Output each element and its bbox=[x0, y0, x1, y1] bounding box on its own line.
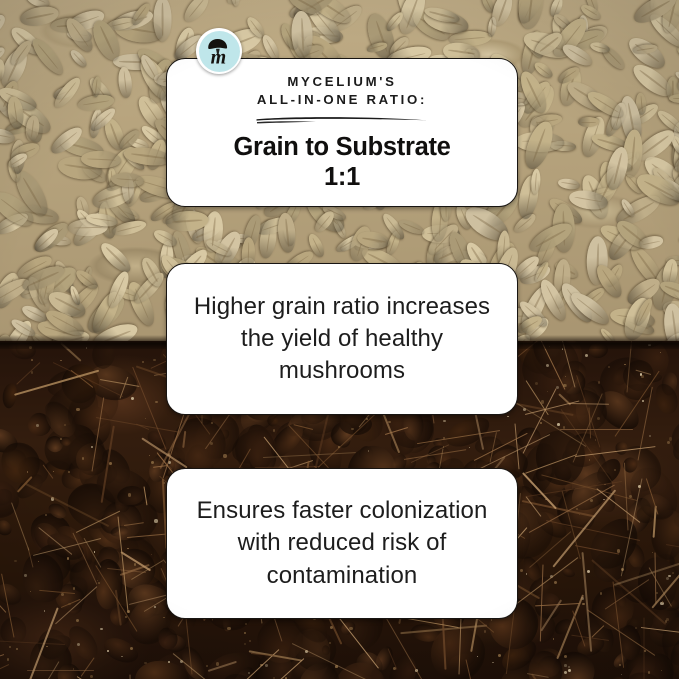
soil-root-fiber bbox=[572, 611, 585, 647]
soil-root-fiber bbox=[388, 648, 398, 670]
grain-kernel bbox=[598, 326, 617, 341]
soil-root-fiber bbox=[42, 464, 53, 479]
ratio-headline: Grain to Substrate 1:1 bbox=[233, 133, 450, 192]
soil-root-fiber bbox=[525, 454, 577, 474]
yield-text: Higher grain ratio increases the yield o… bbox=[167, 291, 517, 387]
soil-root-fiber bbox=[129, 675, 132, 679]
grain-kernel bbox=[669, 94, 679, 103]
soil-root-fiber bbox=[81, 657, 95, 677]
soil-root-fiber bbox=[545, 520, 639, 541]
soil-root-fiber bbox=[666, 544, 679, 548]
soil-root-fiber bbox=[654, 552, 656, 603]
soil-root-fiber bbox=[515, 423, 520, 468]
soil-root-fiber bbox=[635, 370, 651, 375]
soil-root-fiber bbox=[96, 565, 138, 631]
soil-root-fiber bbox=[208, 661, 237, 672]
soil-root-fiber bbox=[560, 409, 613, 484]
soil-root-fiber bbox=[613, 581, 625, 668]
soil-root-fiber bbox=[0, 654, 4, 675]
soil-root-fiber bbox=[646, 478, 659, 514]
soil-root-fiber bbox=[0, 640, 65, 645]
grain-kernel bbox=[97, 239, 134, 276]
soil-root-fiber bbox=[236, 659, 304, 679]
soil-root-fiber bbox=[465, 659, 482, 679]
soil-root-fiber bbox=[527, 673, 549, 678]
grain-kernel bbox=[153, 0, 172, 42]
soil-root-fiber bbox=[39, 527, 73, 555]
soil-root-fiber bbox=[101, 426, 115, 503]
soil-root-fiber bbox=[292, 643, 367, 679]
grain-kernel bbox=[557, 177, 580, 190]
soil-root-fiber bbox=[1, 574, 14, 638]
brand-logo-badge[interactable]: m bbox=[196, 28, 242, 74]
soil-root-fiber bbox=[143, 487, 147, 506]
ratio-eyebrow: MYCELIUM'S ALL-IN-ONE RATIO: bbox=[257, 73, 427, 110]
soil-root-fiber bbox=[620, 478, 642, 576]
soil-root-fiber bbox=[39, 590, 75, 594]
soil-root-fiber bbox=[560, 429, 633, 430]
soil-root-fiber bbox=[506, 612, 515, 675]
flourish-divider-icon bbox=[254, 115, 430, 126]
soil-root-fiber bbox=[91, 397, 104, 471]
soil-root-fiber bbox=[294, 424, 313, 430]
ratio-eyebrow-line1: MYCELIUM'S bbox=[257, 73, 427, 92]
infographic-canvas: MYCELIUM'S ALL-IN-ONE RATIO: Grain to Su… bbox=[0, 0, 679, 679]
soil-root-fiber bbox=[251, 653, 274, 656]
grain-kernel bbox=[0, 11, 9, 40]
soil-root-fiber bbox=[626, 341, 633, 393]
colonization-card: Ensures faster colonization with reduced… bbox=[166, 468, 518, 619]
soil-root-fiber bbox=[182, 431, 186, 448]
yield-card: Higher grain ratio increases the yield o… bbox=[166, 263, 518, 415]
soil-root-fiber bbox=[75, 511, 119, 533]
ratio-eyebrow-line2: ALL-IN-ONE RATIO: bbox=[257, 91, 427, 110]
svg-text:m: m bbox=[211, 46, 227, 68]
soil-root-fiber bbox=[614, 370, 659, 436]
logo-disc: m bbox=[199, 31, 240, 72]
grain-kernel bbox=[516, 0, 546, 30]
soil-root-fiber bbox=[550, 341, 576, 388]
ratio-headline-line2: 1:1 bbox=[233, 163, 450, 193]
soil-root-fiber bbox=[641, 627, 679, 638]
ratio-headline-line1: Grain to Substrate bbox=[233, 133, 450, 163]
mushroom-m-monogram-icon: m bbox=[200, 32, 238, 70]
grain-kernel bbox=[28, 34, 67, 77]
soil-root-fiber bbox=[118, 517, 129, 614]
soil-root-fiber bbox=[473, 434, 550, 472]
grain-kernel bbox=[117, 67, 133, 99]
soil-root-fiber bbox=[173, 653, 242, 679]
soil-root-fiber bbox=[27, 670, 94, 671]
soil-root-fiber bbox=[100, 379, 140, 387]
soil-root-fiber bbox=[525, 496, 541, 517]
soil-root-fiber bbox=[17, 362, 41, 384]
grain-kernel bbox=[530, 168, 541, 194]
soil-root-fiber bbox=[569, 403, 609, 405]
grain-kernel bbox=[181, 0, 213, 26]
soil-root-fiber bbox=[132, 368, 166, 450]
ratio-card: MYCELIUM'S ALL-IN-ONE RATIO: Grain to Su… bbox=[166, 58, 518, 207]
soil-root-fiber bbox=[25, 483, 108, 526]
soil-root-fiber bbox=[61, 342, 82, 361]
soil-root-fiber bbox=[0, 664, 9, 679]
soil-root-fiber bbox=[33, 538, 101, 556]
colonization-text: Ensures faster colonization with reduced… bbox=[167, 495, 517, 591]
soil-root-fiber bbox=[592, 625, 605, 637]
soil-root-fiber bbox=[11, 503, 29, 551]
soil-root-fiber bbox=[417, 430, 501, 444]
soil-root-fiber bbox=[124, 522, 143, 526]
